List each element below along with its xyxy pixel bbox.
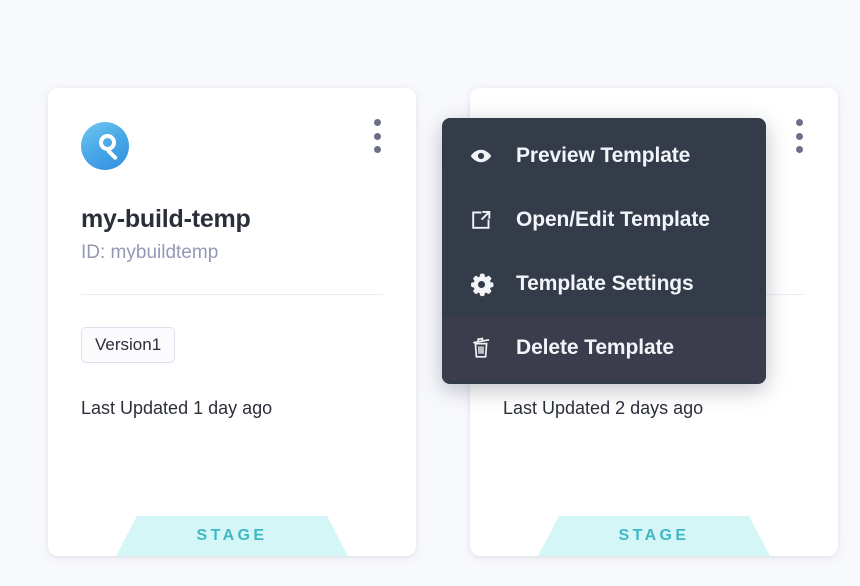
kebab-dot bbox=[374, 146, 381, 153]
template-context-menu: Preview Template Open/Edit Template Temp… bbox=[442, 118, 766, 384]
menu-item-label: Open/Edit Template bbox=[516, 208, 710, 232]
template-card[interactable]: my-build-temp ID: mybuildtemp Version1 L… bbox=[48, 88, 416, 556]
stage-ribbon: STAGE bbox=[116, 516, 348, 556]
eye-icon bbox=[468, 143, 494, 169]
kebab-dot bbox=[796, 146, 803, 153]
version-badge[interactable]: Version1 bbox=[81, 327, 175, 363]
kebab-dot bbox=[796, 119, 803, 126]
menu-item-label: Template Settings bbox=[516, 272, 694, 296]
last-updated-text: Last Updated 2 days ago bbox=[503, 398, 805, 419]
stage-ribbon: STAGE bbox=[538, 516, 770, 556]
kebab-menu-icon[interactable] bbox=[367, 119, 387, 153]
card-id-label: ID: mybuildtemp bbox=[81, 242, 383, 264]
menu-item-template-settings[interactable]: Template Settings bbox=[442, 252, 766, 316]
last-updated-text: Last Updated 1 day ago bbox=[81, 398, 383, 419]
trash-icon bbox=[468, 335, 494, 361]
card-title: my-build-temp bbox=[81, 204, 383, 234]
menu-item-open-edit-template[interactable]: Open/Edit Template bbox=[442, 188, 766, 252]
search-globe-icon bbox=[81, 122, 129, 170]
external-link-icon bbox=[468, 207, 494, 233]
card-body: my-build-temp ID: mybuildtemp Version1 L… bbox=[48, 88, 416, 556]
kebab-menu-icon[interactable] bbox=[789, 119, 809, 153]
kebab-dot bbox=[374, 133, 381, 140]
menu-item-label: Delete Template bbox=[516, 336, 674, 360]
menu-item-delete-template[interactable]: Delete Template bbox=[442, 316, 766, 380]
menu-item-label: Preview Template bbox=[516, 144, 690, 168]
magnifier-handle bbox=[106, 148, 118, 160]
kebab-dot bbox=[796, 133, 803, 140]
gear-icon bbox=[468, 271, 494, 297]
menu-item-preview-template[interactable]: Preview Template bbox=[442, 124, 766, 188]
kebab-dot bbox=[374, 119, 381, 126]
